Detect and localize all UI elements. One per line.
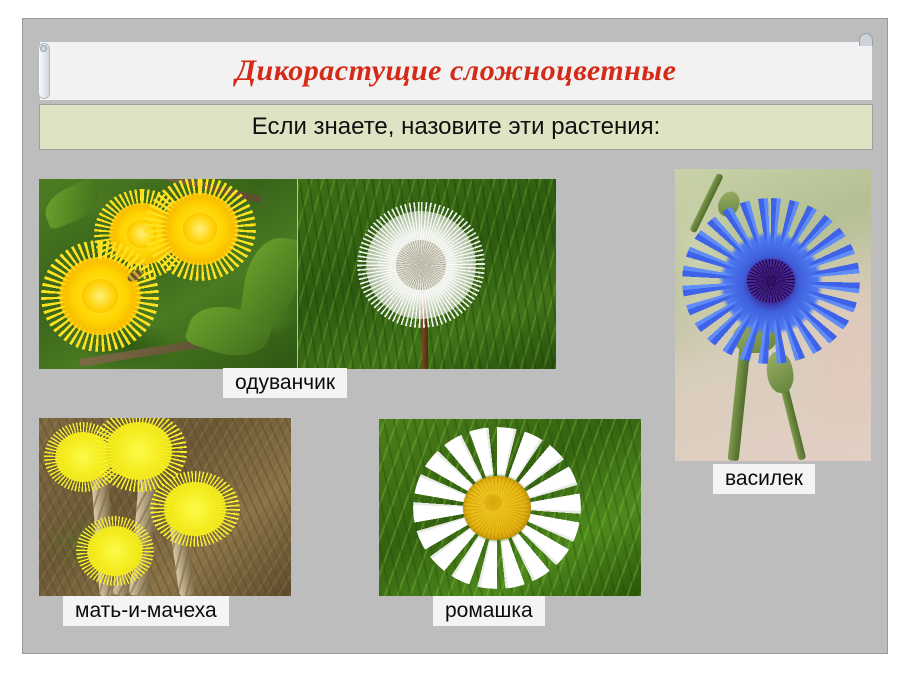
subtitle-text: Если знаете, назовите эти растения: (252, 113, 661, 141)
rotate-handle-icon[interactable] (859, 33, 873, 46)
dandelion-bloom (59, 257, 141, 335)
dandelion-bloom (161, 193, 239, 265)
dandelion-seedhead (366, 211, 476, 319)
subtitle-placeholder[interactable]: Если знаете, назовите эти растения: (39, 104, 873, 150)
flower-core (463, 476, 530, 541)
coltsfoot-bloom (105, 422, 173, 480)
photo-coltsfoot[interactable] (39, 418, 291, 596)
photo-dandelion-flower[interactable] (39, 179, 297, 369)
caption-coltsfoot: мать-и-мачеха (63, 596, 229, 626)
page-title: Дикорастущие сложноцветные (236, 54, 677, 88)
photo-dandelion-seedhead[interactable] (298, 179, 556, 369)
caption-cornflower: василек (713, 464, 815, 494)
title-placeholder[interactable]: Дикорастущие сложноцветные (39, 41, 873, 101)
photo-cornflower[interactable] (675, 169, 871, 461)
chamomile-bloom (413, 427, 581, 589)
resize-handle-dot[interactable] (40, 45, 47, 52)
cornflower-bloom (711, 225, 831, 337)
coltsfoot-bloom (87, 526, 143, 576)
caption-dandelion: одуванчик (223, 368, 347, 398)
caption-chamomile: ромашка (433, 596, 545, 626)
photo-chamomile[interactable] (379, 419, 641, 596)
slide-canvas: Дикорастущие сложноцветные Если знаете, … (22, 18, 888, 654)
coltsfoot-bloom (163, 482, 227, 536)
